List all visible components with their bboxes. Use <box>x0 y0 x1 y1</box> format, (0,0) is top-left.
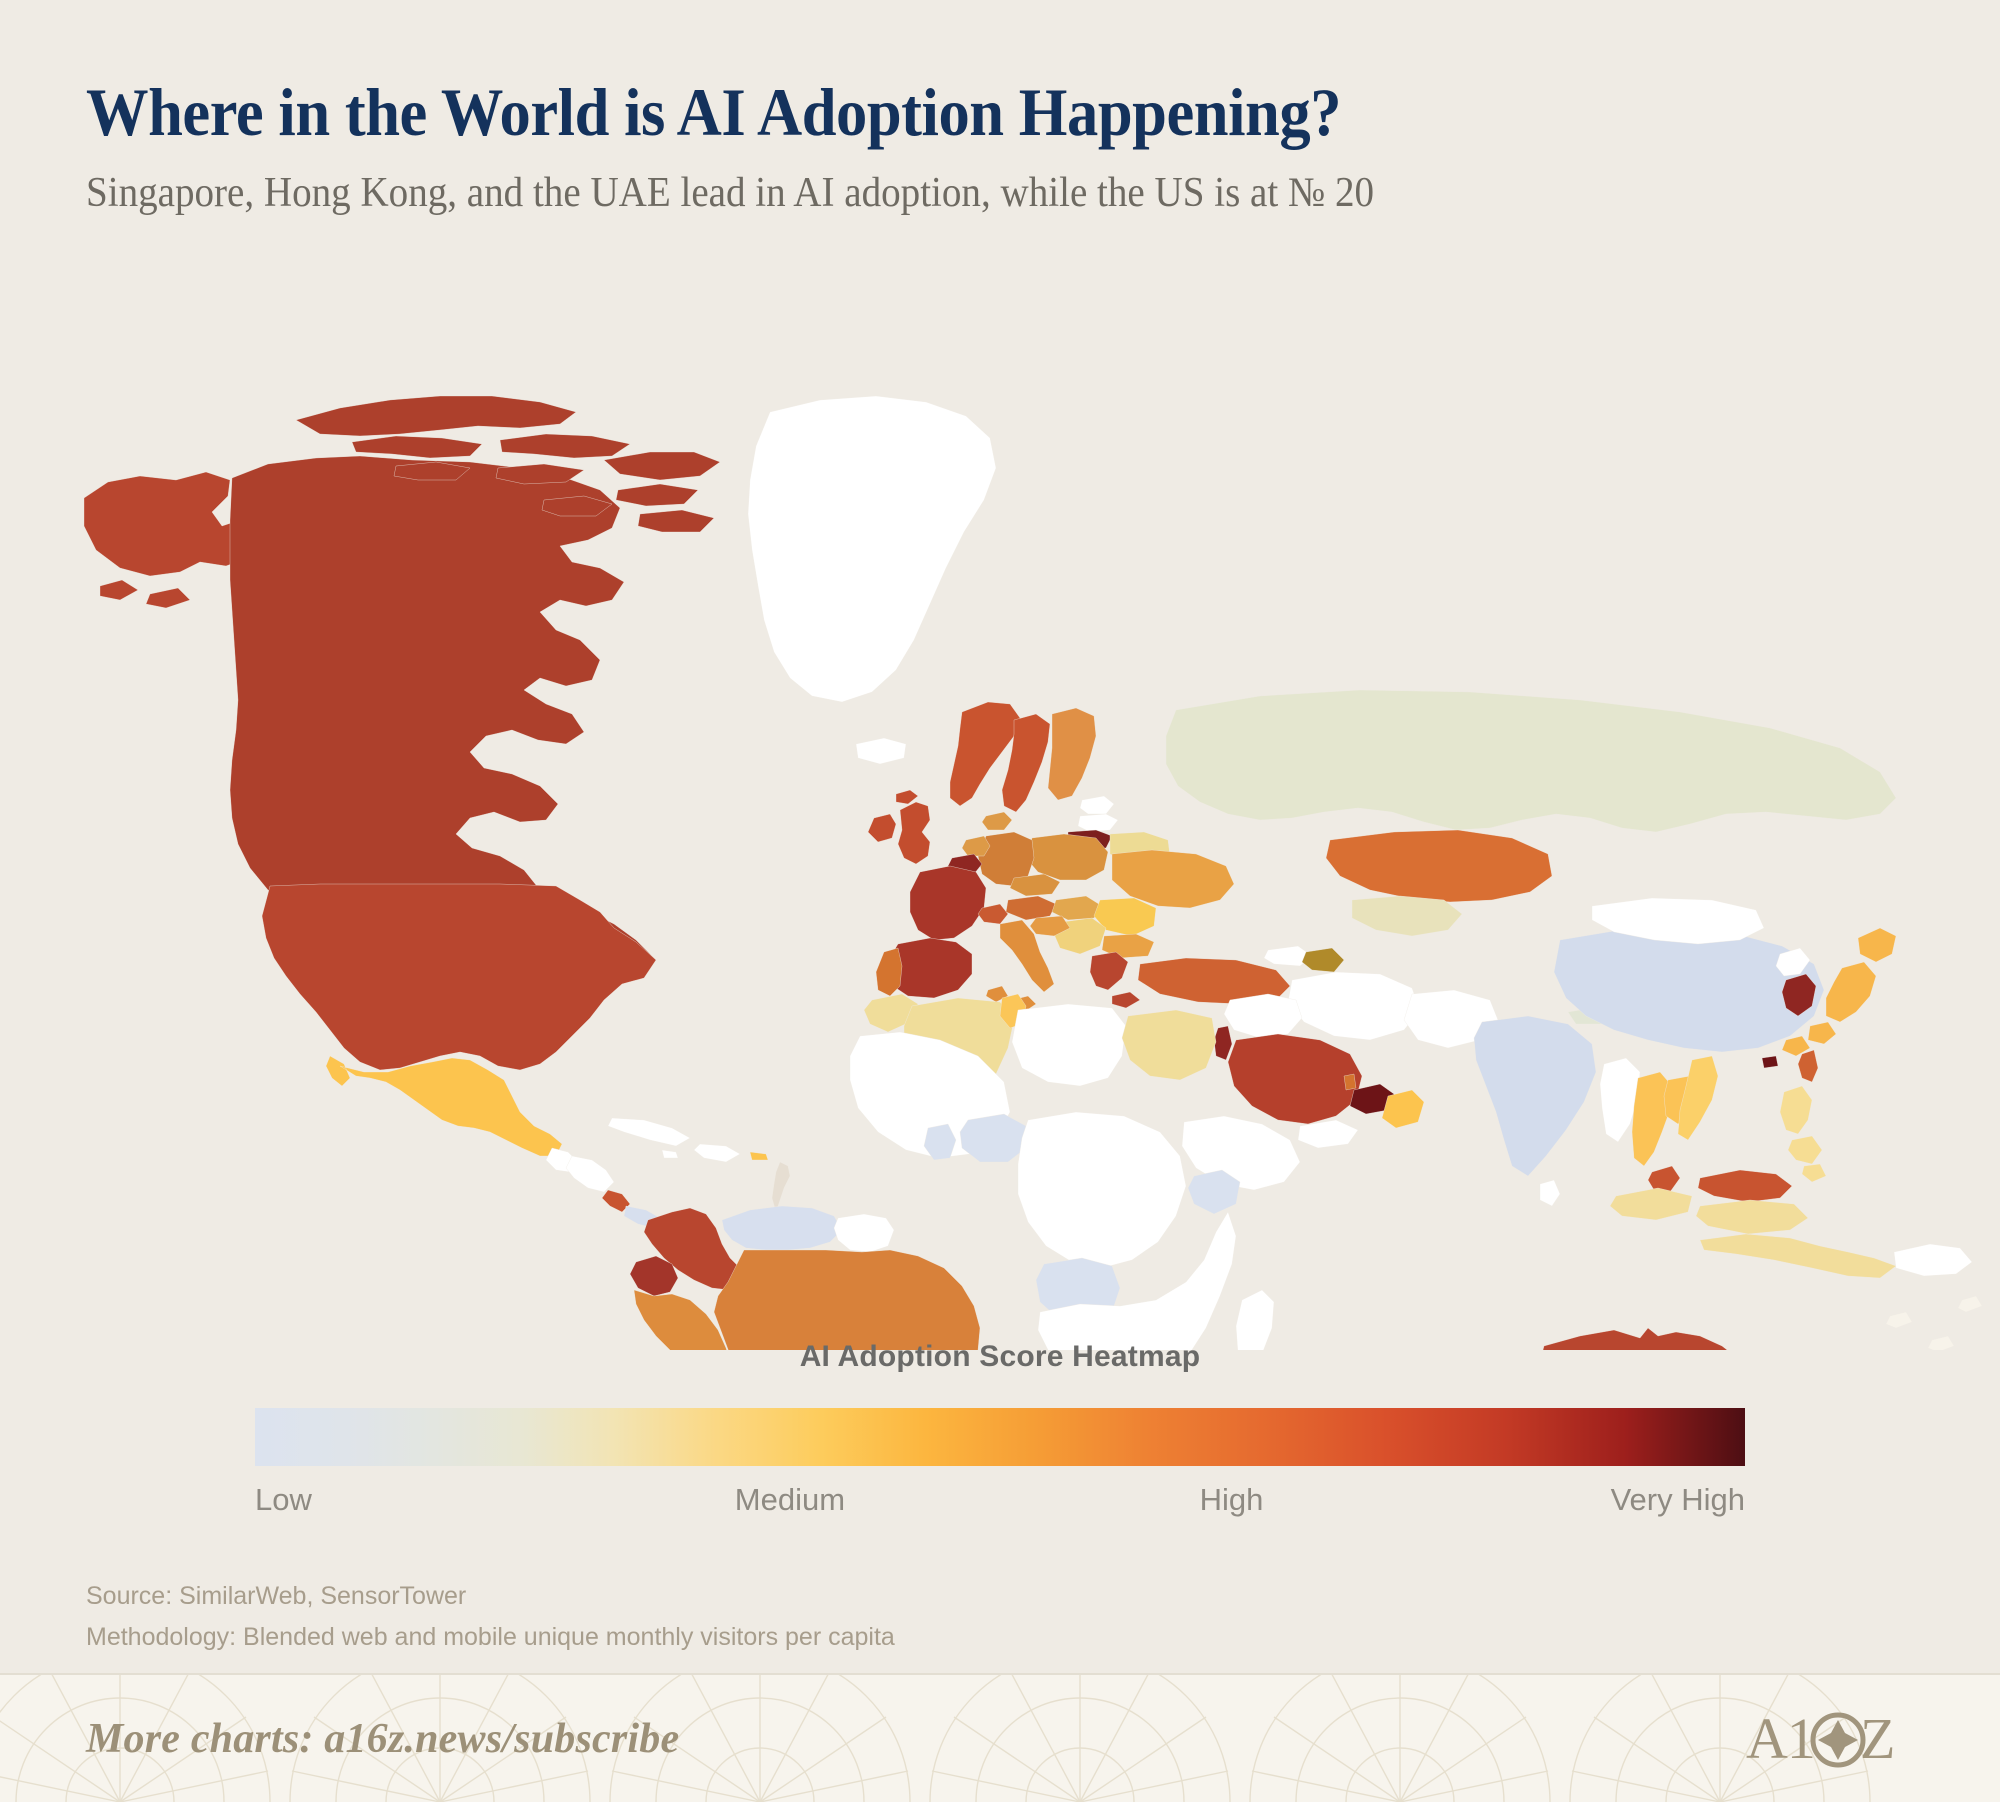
region-saudi-arabia[interactable] <box>1228 1034 1362 1124</box>
region-denmark[interactable] <box>982 812 1012 830</box>
region-venezuela[interactable] <box>722 1206 842 1250</box>
region-finland[interactable] <box>1048 708 1096 800</box>
region-lesser-antilles <box>772 1162 790 1212</box>
region-kenya[interactable] <box>1188 1170 1240 1214</box>
legend-label-high: High <box>1200 1482 1264 1518</box>
region-france[interactable] <box>910 866 986 940</box>
region-india[interactable] <box>1474 1016 1596 1176</box>
region-estonia[interactable] <box>1080 796 1114 814</box>
legend-labels: Low Medium High Very High <box>255 1482 1745 1528</box>
region-hispaniola[interactable] <box>694 1144 740 1162</box>
region-yemen[interactable] <box>1298 1120 1358 1148</box>
source-note: Source: SimilarWeb, SensorTower <box>86 1576 895 1617</box>
page-title: Where in the World is AI Adoption Happen… <box>86 78 1847 146</box>
region-libya[interactable] <box>1012 1004 1126 1086</box>
region-honduras-nicaragua[interactable] <box>566 1156 614 1192</box>
header: Where in the World is AI Adoption Happen… <box>0 0 2000 214</box>
subscribe-cta[interactable]: More charts: a16z.news/subscribe <box>86 1715 679 1763</box>
region-sri-lanka <box>1540 1180 1560 1206</box>
region-cuba[interactable] <box>608 1118 690 1146</box>
region-uzbekistan-turkmenistan[interactable] <box>1352 896 1462 936</box>
region-nigeria[interactable] <box>960 1114 1026 1162</box>
legend-label-low: Low <box>255 1482 312 1518</box>
region-taiwan[interactable] <box>1798 1050 1818 1082</box>
region-austria[interactable] <box>1006 896 1056 920</box>
region-alaska[interactable] <box>84 472 252 608</box>
region-indonesia[interactable] <box>1610 1188 1896 1278</box>
region-hong-kong[interactable] <box>1762 1056 1778 1068</box>
world-choropleth-map <box>0 300 2000 1350</box>
region-united-kingdom[interactable] <box>896 790 930 864</box>
region-israel[interactable] <box>1214 1026 1232 1060</box>
region-iran[interactable] <box>1288 972 1420 1040</box>
a16z-logo-mark: A1 Z <box>1746 1708 1916 1770</box>
region-iraq-syria[interactable] <box>1224 994 1302 1038</box>
region-latvia[interactable] <box>1078 814 1118 832</box>
legend: AI Adoption Score Heatmap Low Medium Hig… <box>0 1340 2000 1528</box>
region-qatar[interactable] <box>1344 1074 1356 1090</box>
region-netherlands[interactable] <box>962 836 990 856</box>
region-iceland[interactable] <box>856 738 906 764</box>
region-jamaica <box>662 1150 678 1158</box>
region-mexico[interactable] <box>326 1056 562 1156</box>
footer: More charts: a16z.news/subscribe A1 Z <box>0 1673 2000 1802</box>
legend-gradient-bar <box>255 1408 1745 1466</box>
region-russia[interactable] <box>1166 690 1896 832</box>
region-guyana-suriname[interactable] <box>834 1214 894 1252</box>
map-land-group <box>84 396 1982 1350</box>
legend-label-medium: Medium <box>735 1482 845 1518</box>
region-papua-new-guinea[interactable] <box>1894 1244 1972 1276</box>
region-central-africa[interactable] <box>1018 1112 1186 1268</box>
region-poland[interactable] <box>1026 834 1108 880</box>
region-puerto-rico[interactable] <box>750 1152 768 1160</box>
footnotes: Source: SimilarWeb, SensorTower Methodol… <box>86 1576 895 1657</box>
svg-text:A1: A1 <box>1746 1708 1815 1770</box>
infographic-page: Where in the World is AI Adoption Happen… <box>0 0 2000 1802</box>
region-greenland[interactable] <box>748 396 996 702</box>
region-greece[interactable] <box>1090 952 1140 1008</box>
region-philippines[interactable] <box>1780 1086 1826 1182</box>
region-kazakhstan[interactable] <box>1326 830 1552 902</box>
map-svg <box>0 300 2000 1350</box>
methodology-note: Methodology: Blended web and mobile uniq… <box>86 1617 895 1658</box>
region-united-states[interactable] <box>262 884 656 1070</box>
region-azerbaijan[interactable] <box>1302 948 1344 972</box>
region-thailand[interactable] <box>1632 1072 1672 1166</box>
legend-title: AI Adoption Score Heatmap <box>0 1340 2000 1374</box>
region-ireland[interactable] <box>868 814 896 842</box>
region-egypt[interactable] <box>1122 1010 1216 1080</box>
legend-label-very-high: Very High <box>1611 1482 1745 1518</box>
legend-bar-row <box>255 1408 1745 1466</box>
a16z-logo[interactable]: A1 Z <box>1746 1708 1916 1770</box>
page-subtitle: Singapore, Hong Kong, and the UAE lead i… <box>86 172 1866 214</box>
region-brazil[interactable] <box>714 1250 980 1350</box>
region-vietnam[interactable] <box>1678 1056 1718 1140</box>
